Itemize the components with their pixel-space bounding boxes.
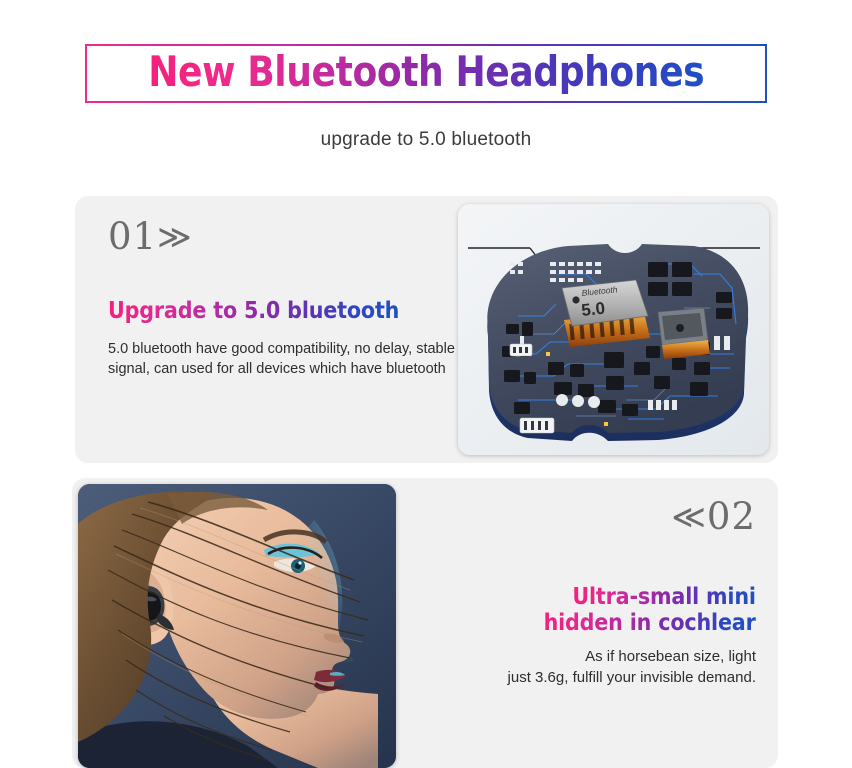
feature-number-02: ≪02: [356, 498, 756, 535]
feature-body-02-line-1: As if horsebean size, light: [356, 646, 756, 668]
feature-heading-02-line-1: Ultra-small mini: [573, 585, 756, 611]
feature-card-01: 01≫ Upgrade to 5.0 bluetooth 5.0 bluetoo…: [75, 196, 778, 463]
earbud-model-photo: [78, 484, 396, 768]
feature-heading-02-wrap: Ultra-small mini hidden in cochlear: [356, 585, 756, 637]
feature-number-02-value: 02: [707, 495, 756, 538]
feature-card-02-text: ≪02 Ultra-small mini hidden in cochlear …: [356, 498, 756, 689]
feature-heading-02-line-2: hidden in cochlear: [544, 611, 756, 637]
feature-body-02: As if horsebean size, light just 3.6g, f…: [356, 646, 756, 690]
feature-card-01-text: 01≫ Upgrade to 5.0 bluetooth 5.0 bluetoo…: [108, 218, 478, 380]
chevron-left-icon: ≪: [671, 497, 707, 536]
earbud-model-illustration: [78, 484, 396, 768]
feature-heading-01-wrap: Upgrade to 5.0 bluetooth: [108, 299, 478, 325]
feature-number-01-value: 01: [108, 215, 157, 258]
page-subtitle: upgrade to 5.0 bluetooth: [0, 129, 852, 151]
feature-body-02-line-2: just 3.6g, fulfill your invisible demand…: [356, 667, 756, 689]
feature-card-02: ≪02 Ultra-small mini hidden in cochlear …: [72, 478, 778, 768]
feature-number-01: 01≫: [108, 218, 478, 255]
circuit-board-illustration: Bluetooth 5.0: [458, 204, 769, 455]
pcb-shield-module: [658, 308, 710, 359]
feature-heading-01: Upgrade to 5.0 bluetooth: [108, 299, 399, 325]
chip-label-version: 5.0: [580, 299, 605, 320]
page-header: New Bluetooth Headphones upgrade to 5.0 …: [0, 0, 852, 151]
page-title-box: New Bluetooth Headphones: [85, 44, 768, 103]
page-title: New Bluetooth Headphones: [148, 50, 704, 94]
feature-body-01: 5.0 bluetooth have good compatibility, n…: [108, 339, 478, 380]
chevron-right-icon: ≫: [157, 217, 193, 256]
circuit-board-image: Bluetooth 5.0: [458, 204, 769, 455]
